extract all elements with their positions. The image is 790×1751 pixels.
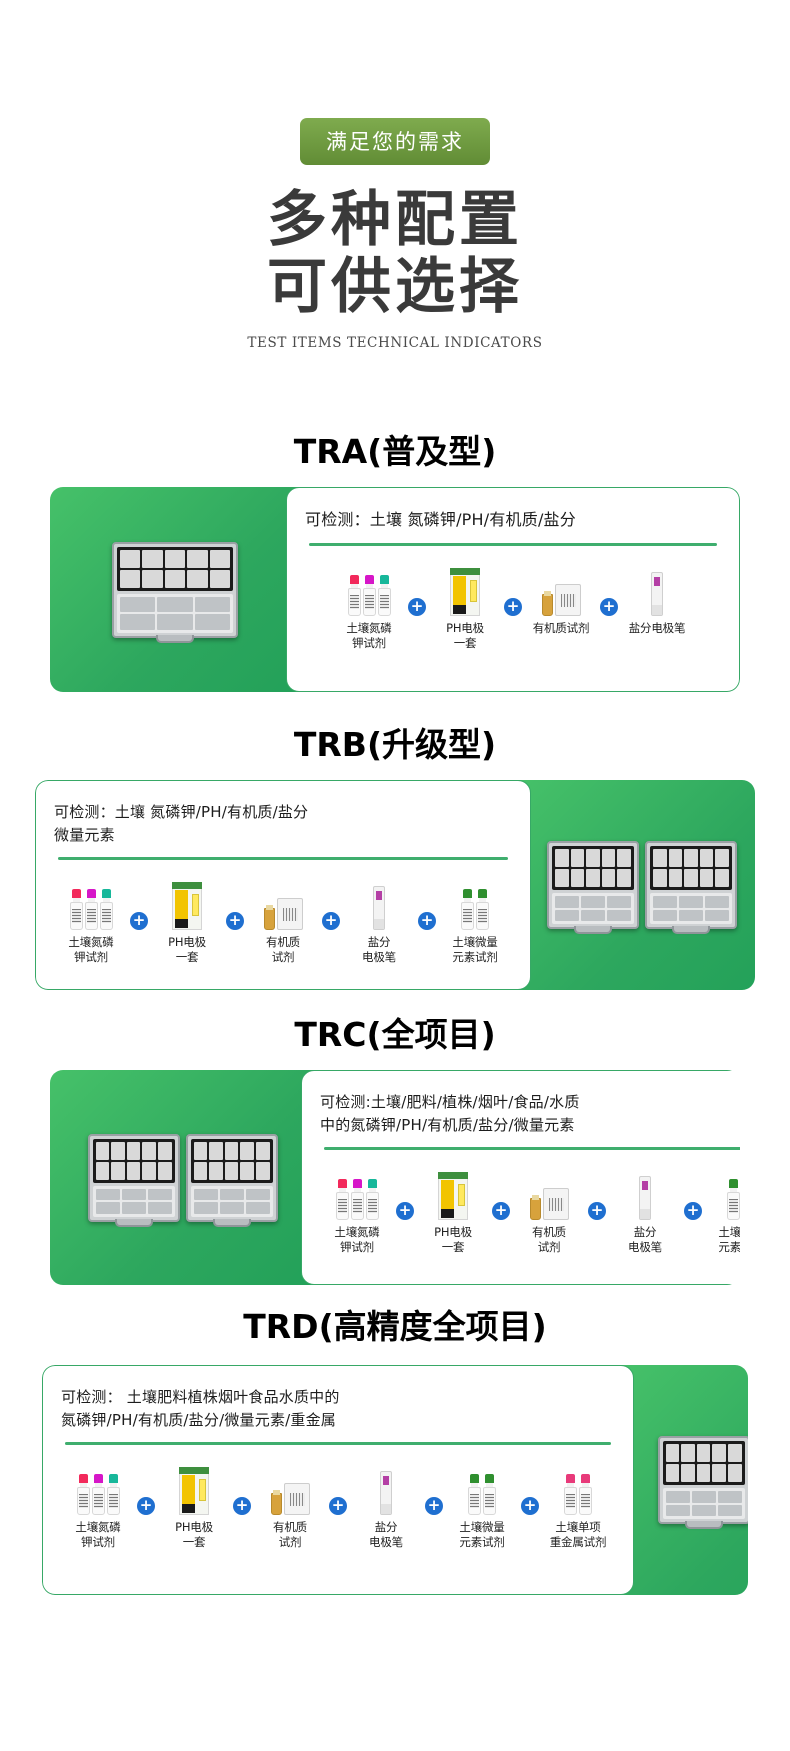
page-title-line2: 可供选择 xyxy=(0,254,790,321)
accessory-thumb xyxy=(438,1162,468,1220)
plus-icon: + xyxy=(588,1202,606,1220)
header-pill-badge: 满足您的需求 xyxy=(300,118,490,165)
accessory-caption: 土壤微量元素试剂 xyxy=(459,1520,504,1551)
detect-description-2: 可检测:土壤/肥料/植株/烟叶/食品/水质中的氮磷钾/PH/有机质/盐分/微量元… xyxy=(320,1091,740,1136)
accessory-caption: 有机质试剂 xyxy=(273,1520,307,1551)
caption-line: 土壤氮磷 xyxy=(75,1520,120,1536)
plus-icon: + xyxy=(684,1202,702,1220)
caption-line: 盐分 xyxy=(369,1520,403,1536)
accessory-item: 土壤微量元素试剂 xyxy=(445,1457,519,1551)
plus-icon: + xyxy=(504,598,522,616)
plus-icon: + xyxy=(233,1497,251,1515)
card-info-pane-1: 可检测：土壤 氮磷钾/PH/有机质/盐分微量元素土壤氮磷钾试剂+PH电极一套+有… xyxy=(35,780,531,990)
plus-icon: + xyxy=(418,912,436,930)
accessory-item: 土壤氮磷钾试剂 xyxy=(332,558,406,652)
reagent-bottle-icon xyxy=(378,575,391,616)
reagent-bottle-icon xyxy=(727,1179,740,1220)
caption-line: 元素试剂 xyxy=(459,1535,504,1551)
accessory-caption: 有机质试剂 xyxy=(266,935,300,966)
card-photo-pane-3 xyxy=(620,1365,748,1595)
test-kit-suitcase-photo xyxy=(186,1134,278,1222)
page-title: 多种配置 可供选择 xyxy=(0,187,790,321)
accessory-thumb xyxy=(77,1457,120,1515)
section-title-2: TRC(全项目) xyxy=(0,1008,790,1056)
caption-line: 有机质 xyxy=(532,1225,566,1241)
caption-line: 钾试剂 xyxy=(68,950,113,966)
card-photo-pane-0 xyxy=(50,487,300,692)
ph-electrode-kit-icon xyxy=(172,882,202,930)
plus-icon: + xyxy=(521,1497,539,1515)
caption-line: 钾试剂 xyxy=(346,636,391,652)
accessory-thumb xyxy=(450,558,480,616)
caption-line: 试剂 xyxy=(532,1240,566,1256)
accessory-caption: 土壤微量元素试剂 xyxy=(452,935,497,966)
salinity-pen-icon xyxy=(373,886,385,930)
accessory-thumb xyxy=(542,558,581,616)
accessory-thumb xyxy=(651,558,663,616)
detect-description-3: 可检测： 土壤肥料植株烟叶食品水质中的氮磷钾/PH/有机质/盐分/微量元素/重金… xyxy=(61,1386,615,1431)
reagent-bottle-icon xyxy=(70,889,83,930)
caption-line: 电极笔 xyxy=(369,1535,403,1551)
caption-line: 电极笔 xyxy=(628,1240,662,1256)
accessory-item: PH电极一套 xyxy=(428,558,502,652)
reagent-bottle-icon xyxy=(351,1179,364,1220)
reagent-bottle-icon xyxy=(348,575,361,616)
accessory-caption: 土壤氮磷钾试剂 xyxy=(75,1520,120,1551)
accessory-thumb xyxy=(172,872,202,930)
plus-icon: + xyxy=(600,598,618,616)
reagent-vial-icon xyxy=(530,1198,541,1220)
accessory-list-0: 土壤氮磷钾试剂+PH电极一套+有机质试剂+盐分电极笔 xyxy=(305,558,721,678)
accessory-item: 有机质试剂 xyxy=(512,1162,586,1256)
detect-line: 微量元素 xyxy=(54,824,512,847)
caption-line: PH电极 xyxy=(175,1520,213,1536)
caption-line: 一套 xyxy=(434,1240,472,1256)
accessory-thumb xyxy=(639,1162,651,1220)
accessory-thumb xyxy=(348,558,391,616)
accessory-caption: 盐分电极笔 xyxy=(629,621,686,637)
reagent-bottle-icon xyxy=(85,889,98,930)
detect-line: 可检测:土壤/肥料/植株/烟叶/食品/水质 xyxy=(320,1091,740,1114)
accessory-caption: 有机质试剂 xyxy=(532,1225,566,1256)
plus-icon: + xyxy=(329,1497,347,1515)
reagent-bottle-icon xyxy=(77,1474,90,1515)
caption-line: 土壤氮磷 xyxy=(334,1225,379,1241)
reagent-bottle-icon xyxy=(366,1179,379,1220)
page-header: 满足您的需求 多种配置 可供选择 TEST ITEMS TECHNICAL IN… xyxy=(0,0,790,351)
accessory-item: 有机质试剂 xyxy=(524,558,598,637)
accessory-item: PH电极一套 xyxy=(157,1457,231,1551)
accessory-thumb xyxy=(727,1162,740,1220)
caption-line: 有机质试剂 xyxy=(533,621,590,637)
detect-line: 可检测：土壤 氮磷钾/PH/有机质/盐分 xyxy=(54,801,512,824)
reagent-bottle-icon xyxy=(461,889,474,930)
caption-line: 钾试剂 xyxy=(75,1535,120,1551)
accessory-caption: PH电极一套 xyxy=(168,935,206,966)
plus-icon: + xyxy=(408,598,426,616)
accessory-thumb xyxy=(271,1457,310,1515)
product-card-0[interactable]: 可检测：土壤 氮磷钾/PH/有机质/盐分土壤氮磷钾试剂+PH电极一套+有机质试剂… xyxy=(50,487,740,692)
detect-line: 中的氮磷钾/PH/有机质/盐分/微量元素 xyxy=(320,1114,740,1137)
reagent-bottle-icon xyxy=(483,1474,496,1515)
ph-electrode-kit-icon xyxy=(179,1467,209,1515)
accessory-item: 有机质试剂 xyxy=(246,872,320,966)
detect-description-1: 可检测：土壤 氮磷钾/PH/有机质/盐分微量元素 xyxy=(54,801,512,846)
caption-line: 土壤单项 xyxy=(550,1520,607,1536)
accessory-thumb xyxy=(373,872,385,930)
test-kit-suitcase-photo xyxy=(658,1436,749,1524)
accessory-thumb xyxy=(336,1162,379,1220)
ph-electrode-kit-icon xyxy=(438,1172,468,1220)
card-photo-pane-2 xyxy=(50,1070,315,1285)
card-photo-pane-1 xyxy=(517,780,755,990)
reagent-bottle-icon xyxy=(564,1474,577,1515)
reagent-bottle-icon xyxy=(107,1474,120,1515)
test-kit-suitcase-photo xyxy=(547,841,639,929)
caption-line: 土壤微量 xyxy=(718,1225,740,1241)
accessory-caption: 土壤氮磷钾试剂 xyxy=(346,621,391,652)
section-title-3: TRD(高精度全项目) xyxy=(0,1300,790,1348)
accessory-item: 土壤氮磷钾试剂 xyxy=(54,872,128,966)
caption-line: 元素试剂 xyxy=(718,1240,740,1256)
accessory-list-1: 土壤氮磷钾试剂+PH电极一套+有机质试剂+盐分电极笔+土壤微量元素试剂 xyxy=(54,872,512,976)
caption-line: 盐分 xyxy=(628,1225,662,1241)
plus-icon: + xyxy=(226,912,244,930)
accessory-thumb xyxy=(380,1457,392,1515)
salinity-pen-icon xyxy=(651,572,663,616)
accessory-item: 有机质试剂 xyxy=(253,1457,327,1551)
caption-line: 土壤氮磷 xyxy=(68,935,113,951)
accessory-thumb xyxy=(564,1457,592,1515)
accessory-item: 盐分电极笔 xyxy=(608,1162,682,1256)
accessory-caption: PH电极一套 xyxy=(175,1520,213,1551)
accessory-item: 土壤微量元素试剂 xyxy=(704,1162,740,1256)
product-card-1[interactable]: 可检测：土壤 氮磷钾/PH/有机质/盐分微量元素土壤氮磷钾试剂+PH电极一套+有… xyxy=(35,780,755,990)
ph-electrode-kit-icon xyxy=(450,568,480,616)
accessory-thumb xyxy=(468,1457,496,1515)
plus-icon: + xyxy=(137,1497,155,1515)
test-kit-suitcase-photo xyxy=(645,841,737,929)
reagent-pouch-icon xyxy=(543,1188,569,1220)
caption-line: 一套 xyxy=(175,1535,213,1551)
page-title-line1: 多种配置 xyxy=(267,185,523,255)
salinity-pen-icon xyxy=(639,1176,651,1220)
accessory-item: 土壤氮磷钾试剂 xyxy=(61,1457,135,1551)
test-kit-suitcase-photo xyxy=(112,542,238,638)
accessory-thumb xyxy=(530,1162,569,1220)
detect-line: 可检测：土壤 氮磷钾/PH/有机质/盐分 xyxy=(305,508,721,532)
reagent-pouch-icon xyxy=(284,1483,310,1515)
reagent-bottle-icon xyxy=(92,1474,105,1515)
reagent-bottle-icon xyxy=(336,1179,349,1220)
reagent-pouch-icon xyxy=(555,584,581,616)
salinity-pen-icon xyxy=(380,1471,392,1515)
product-card-3[interactable]: 可检测： 土壤肥料植株烟叶食品水质中的氮磷钾/PH/有机质/盐分/微量元素/重金… xyxy=(42,1365,748,1595)
accessory-caption: 盐分电极笔 xyxy=(362,935,396,966)
accessory-caption: PH电极一套 xyxy=(434,1225,472,1256)
detect-description-0: 可检测：土壤 氮磷钾/PH/有机质/盐分 xyxy=(305,508,721,532)
caption-line: PH电极 xyxy=(168,935,206,951)
caption-line: 钾试剂 xyxy=(334,1240,379,1256)
accessory-thumb xyxy=(264,872,303,930)
caption-line: 一套 xyxy=(446,636,484,652)
accessory-item: 盐分电极笔 xyxy=(342,872,416,966)
caption-line: PH电极 xyxy=(446,621,484,637)
plus-icon: + xyxy=(425,1497,443,1515)
accessory-caption: 盐分电极笔 xyxy=(628,1225,662,1256)
plus-icon: + xyxy=(396,1202,414,1220)
caption-line: 试剂 xyxy=(266,950,300,966)
caption-line: 试剂 xyxy=(273,1535,307,1551)
accessory-item: 土壤氮磷钾试剂 xyxy=(320,1162,394,1256)
caption-line: 土壤微量 xyxy=(459,1520,504,1536)
accessory-item: 土壤单项重金属试剂 xyxy=(541,1457,615,1551)
accessory-thumb xyxy=(179,1457,209,1515)
reagent-bottle-icon xyxy=(363,575,376,616)
detect-line: 氮磷钾/PH/有机质/盐分/微量元素/重金属 xyxy=(61,1409,615,1432)
accessory-item: PH电极一套 xyxy=(416,1162,490,1256)
caption-line: 一套 xyxy=(168,950,206,966)
reagent-vial-icon xyxy=(542,594,553,616)
accessory-caption: 土壤单项重金属试剂 xyxy=(550,1520,607,1551)
product-card-2[interactable]: 可检测:土壤/肥料/植株/烟叶/食品/水质中的氮磷钾/PH/有机质/盐分/微量元… xyxy=(50,1070,740,1285)
divider-rule xyxy=(65,1442,611,1445)
accessory-item: 土壤微量元素试剂 xyxy=(438,872,512,966)
accessory-item: 盐分电极笔 xyxy=(620,558,694,637)
reagent-bottle-icon xyxy=(468,1474,481,1515)
reagent-bottle-icon xyxy=(579,1474,592,1515)
accessory-list-2: 土壤氮磷钾试剂+PH电极一套+有机质试剂+盐分电极笔+土壤微量元素试剂 xyxy=(320,1162,740,1271)
accessory-item: PH电极一套 xyxy=(150,872,224,966)
accessory-list-3: 土壤氮磷钾试剂+PH电极一套+有机质试剂+盐分电极笔+土壤微量元素试剂+土壤单项… xyxy=(61,1457,615,1581)
reagent-bottle-icon xyxy=(100,889,113,930)
accessory-thumb xyxy=(461,872,489,930)
caption-line: PH电极 xyxy=(434,1225,472,1241)
card-info-pane-0: 可检测：土壤 氮磷钾/PH/有机质/盐分土壤氮磷钾试剂+PH电极一套+有机质试剂… xyxy=(286,487,740,692)
divider-rule xyxy=(324,1147,740,1150)
caption-line: 土壤氮磷 xyxy=(346,621,391,637)
caption-line: 有机质 xyxy=(273,1520,307,1536)
reagent-vial-icon xyxy=(271,1493,282,1515)
caption-line: 电极笔 xyxy=(362,950,396,966)
divider-rule xyxy=(58,857,508,860)
card-info-pane-2: 可检测:土壤/肥料/植株/烟叶/食品/水质中的氮磷钾/PH/有机质/盐分/微量元… xyxy=(301,1070,740,1285)
page-subtitle-english: TEST ITEMS TECHNICAL INDICATORS xyxy=(0,335,790,351)
plus-icon: + xyxy=(492,1202,510,1220)
accessory-caption: 土壤氮磷钾试剂 xyxy=(334,1225,379,1256)
accessory-caption: PH电极一套 xyxy=(446,621,484,652)
divider-rule xyxy=(309,543,717,546)
test-kit-suitcase-photo xyxy=(88,1134,180,1222)
accessory-caption: 盐分电极笔 xyxy=(369,1520,403,1551)
card-info-pane-3: 可检测： 土壤肥料植株烟叶食品水质中的氮磷钾/PH/有机质/盐分/微量元素/重金… xyxy=(42,1365,634,1595)
reagent-vial-icon xyxy=(264,908,275,930)
caption-line: 元素试剂 xyxy=(452,950,497,966)
section-title-0: TRA(普及型) xyxy=(0,425,790,473)
caption-line: 盐分电极笔 xyxy=(629,621,686,637)
caption-line: 有机质 xyxy=(266,935,300,951)
caption-line: 盐分 xyxy=(362,935,396,951)
plus-icon: + xyxy=(322,912,340,930)
accessory-caption: 有机质试剂 xyxy=(533,621,590,637)
reagent-bottle-icon xyxy=(476,889,489,930)
detect-line: 可检测： 土壤肥料植株烟叶食品水质中的 xyxy=(61,1386,615,1409)
section-title-1: TRB(升级型) xyxy=(0,718,790,766)
caption-line: 重金属试剂 xyxy=(550,1535,607,1551)
accessory-caption: 土壤氮磷钾试剂 xyxy=(68,935,113,966)
accessory-caption: 土壤微量元素试剂 xyxy=(718,1225,740,1256)
plus-icon: + xyxy=(130,912,148,930)
reagent-pouch-icon xyxy=(277,898,303,930)
accessory-thumb xyxy=(70,872,113,930)
accessory-item: 盐分电极笔 xyxy=(349,1457,423,1551)
caption-line: 土壤微量 xyxy=(452,935,497,951)
